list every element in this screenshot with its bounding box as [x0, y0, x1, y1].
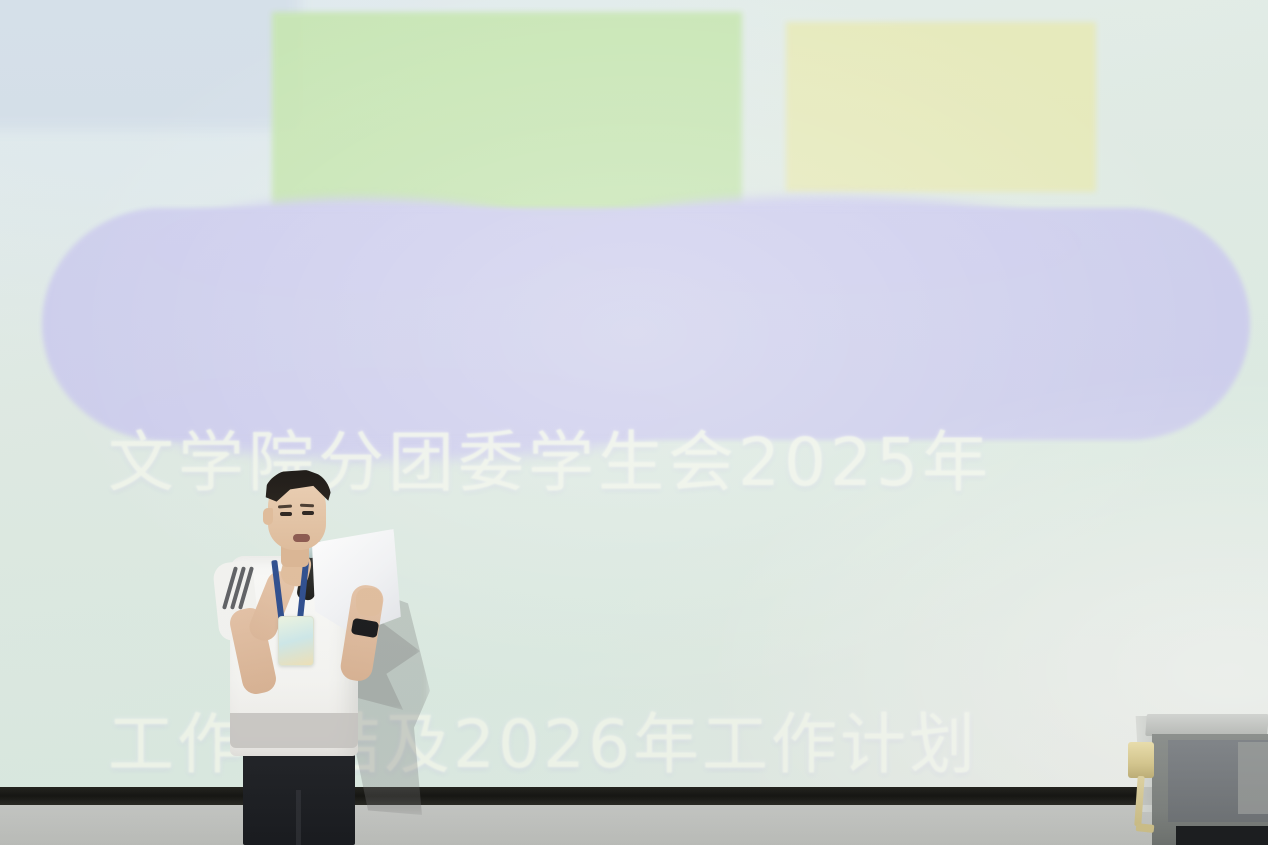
projection-screen: 文学院分团委学生会2025年 工作总结及2026年工作计划: [0, 0, 1268, 790]
lectern-base: [1176, 826, 1268, 845]
lectern-side-panel: [1238, 742, 1268, 814]
speaker-eye-left: [280, 512, 292, 516]
lectern-top-surface: [1145, 714, 1268, 736]
speaker-mouth: [293, 534, 310, 542]
speaker-leg-seam: [296, 790, 301, 845]
speaker-ear: [263, 508, 273, 525]
speaker-shirt-hem: [230, 713, 358, 748]
cloud-green-decoration: [272, 12, 742, 217]
lower-wall: [0, 805, 1268, 845]
screen-bottom-rail: [0, 787, 1268, 807]
speaker-eye-right: [302, 511, 314, 515]
wood-accent-block: [1128, 742, 1154, 778]
cloud-yellow-decoration: [786, 22, 1096, 192]
cloud-blue-decoration: [0, 0, 300, 130]
id-badge: [278, 616, 314, 666]
speaker-hand-holding-paper: [356, 588, 382, 616]
screenshot-root: 文学院分团委学生会2025年 工作总结及2026年工作计划: [0, 0, 1268, 845]
